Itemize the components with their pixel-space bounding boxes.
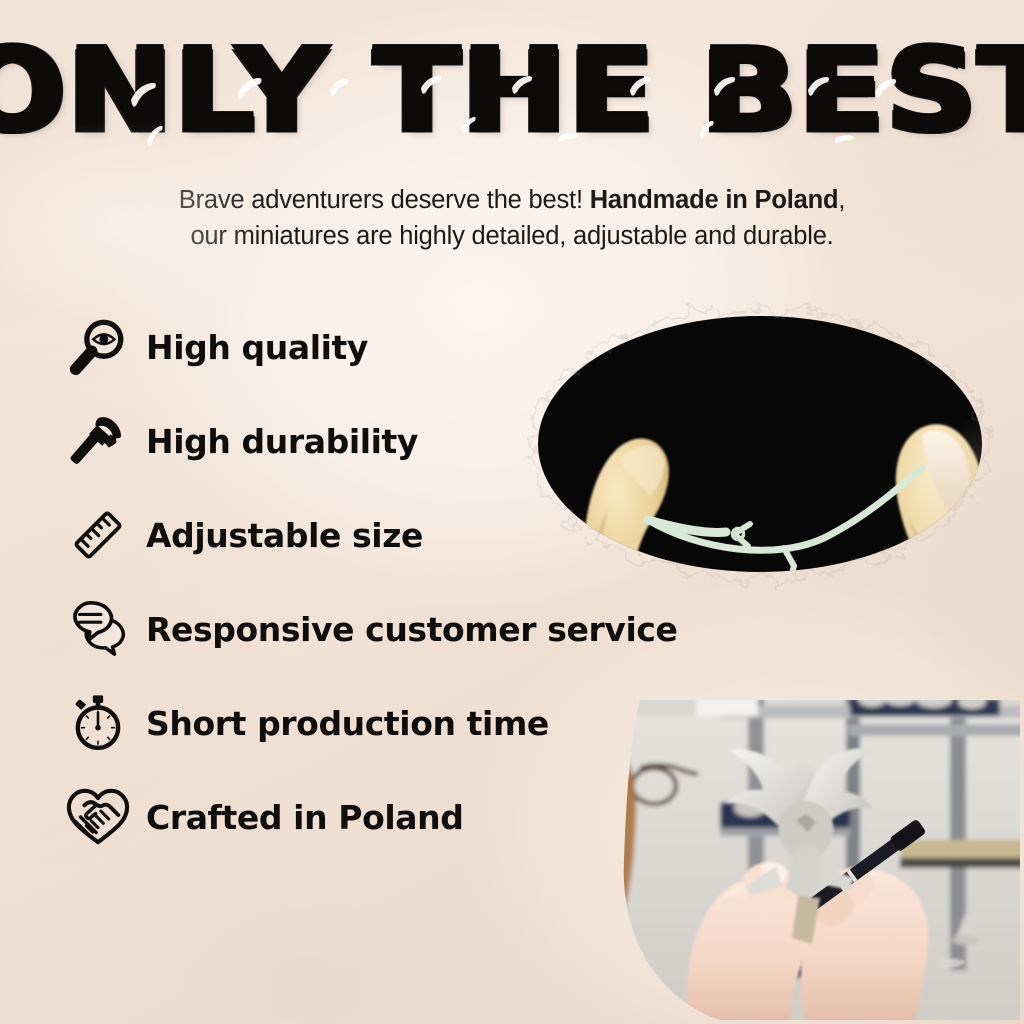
feature-label: High quality (146, 328, 368, 367)
subtitle: Brave adventurers deserve the best! Hand… (62, 182, 962, 254)
subtitle-line1-prefix: Brave adventurers deserve the best! (179, 186, 590, 214)
feature-label: Crafted in Poland (146, 798, 463, 837)
feature-label: Short production time (146, 704, 549, 743)
feature-label: High durability (146, 422, 418, 461)
flexible-miniature-photo (498, 282, 1018, 612)
speech-bubbles-icon (62, 593, 134, 665)
ruler-icon (62, 499, 134, 571)
poster-canvas: ONLY THE BEST Brave adventurers dese (0, 0, 1024, 1024)
subtitle-line2: our miniatures are highly detailed, adju… (190, 222, 833, 250)
feature-label: Adjustable size (146, 516, 423, 555)
magnifier-eye-icon (62, 311, 134, 383)
title-block: ONLY THE BEST (0, 34, 1024, 142)
hammer-icon (62, 405, 134, 477)
feature-label: Responsive customer service (146, 610, 678, 649)
stopwatch-icon (62, 687, 134, 759)
subtitle-highlight: Handmade in Poland (590, 186, 839, 214)
subtitle-line1-suffix: , (838, 186, 845, 214)
workshop-painting-photo (600, 690, 1024, 1024)
heart-handshake-icon (62, 781, 134, 853)
page-title: ONLY THE BEST (0, 34, 1024, 148)
